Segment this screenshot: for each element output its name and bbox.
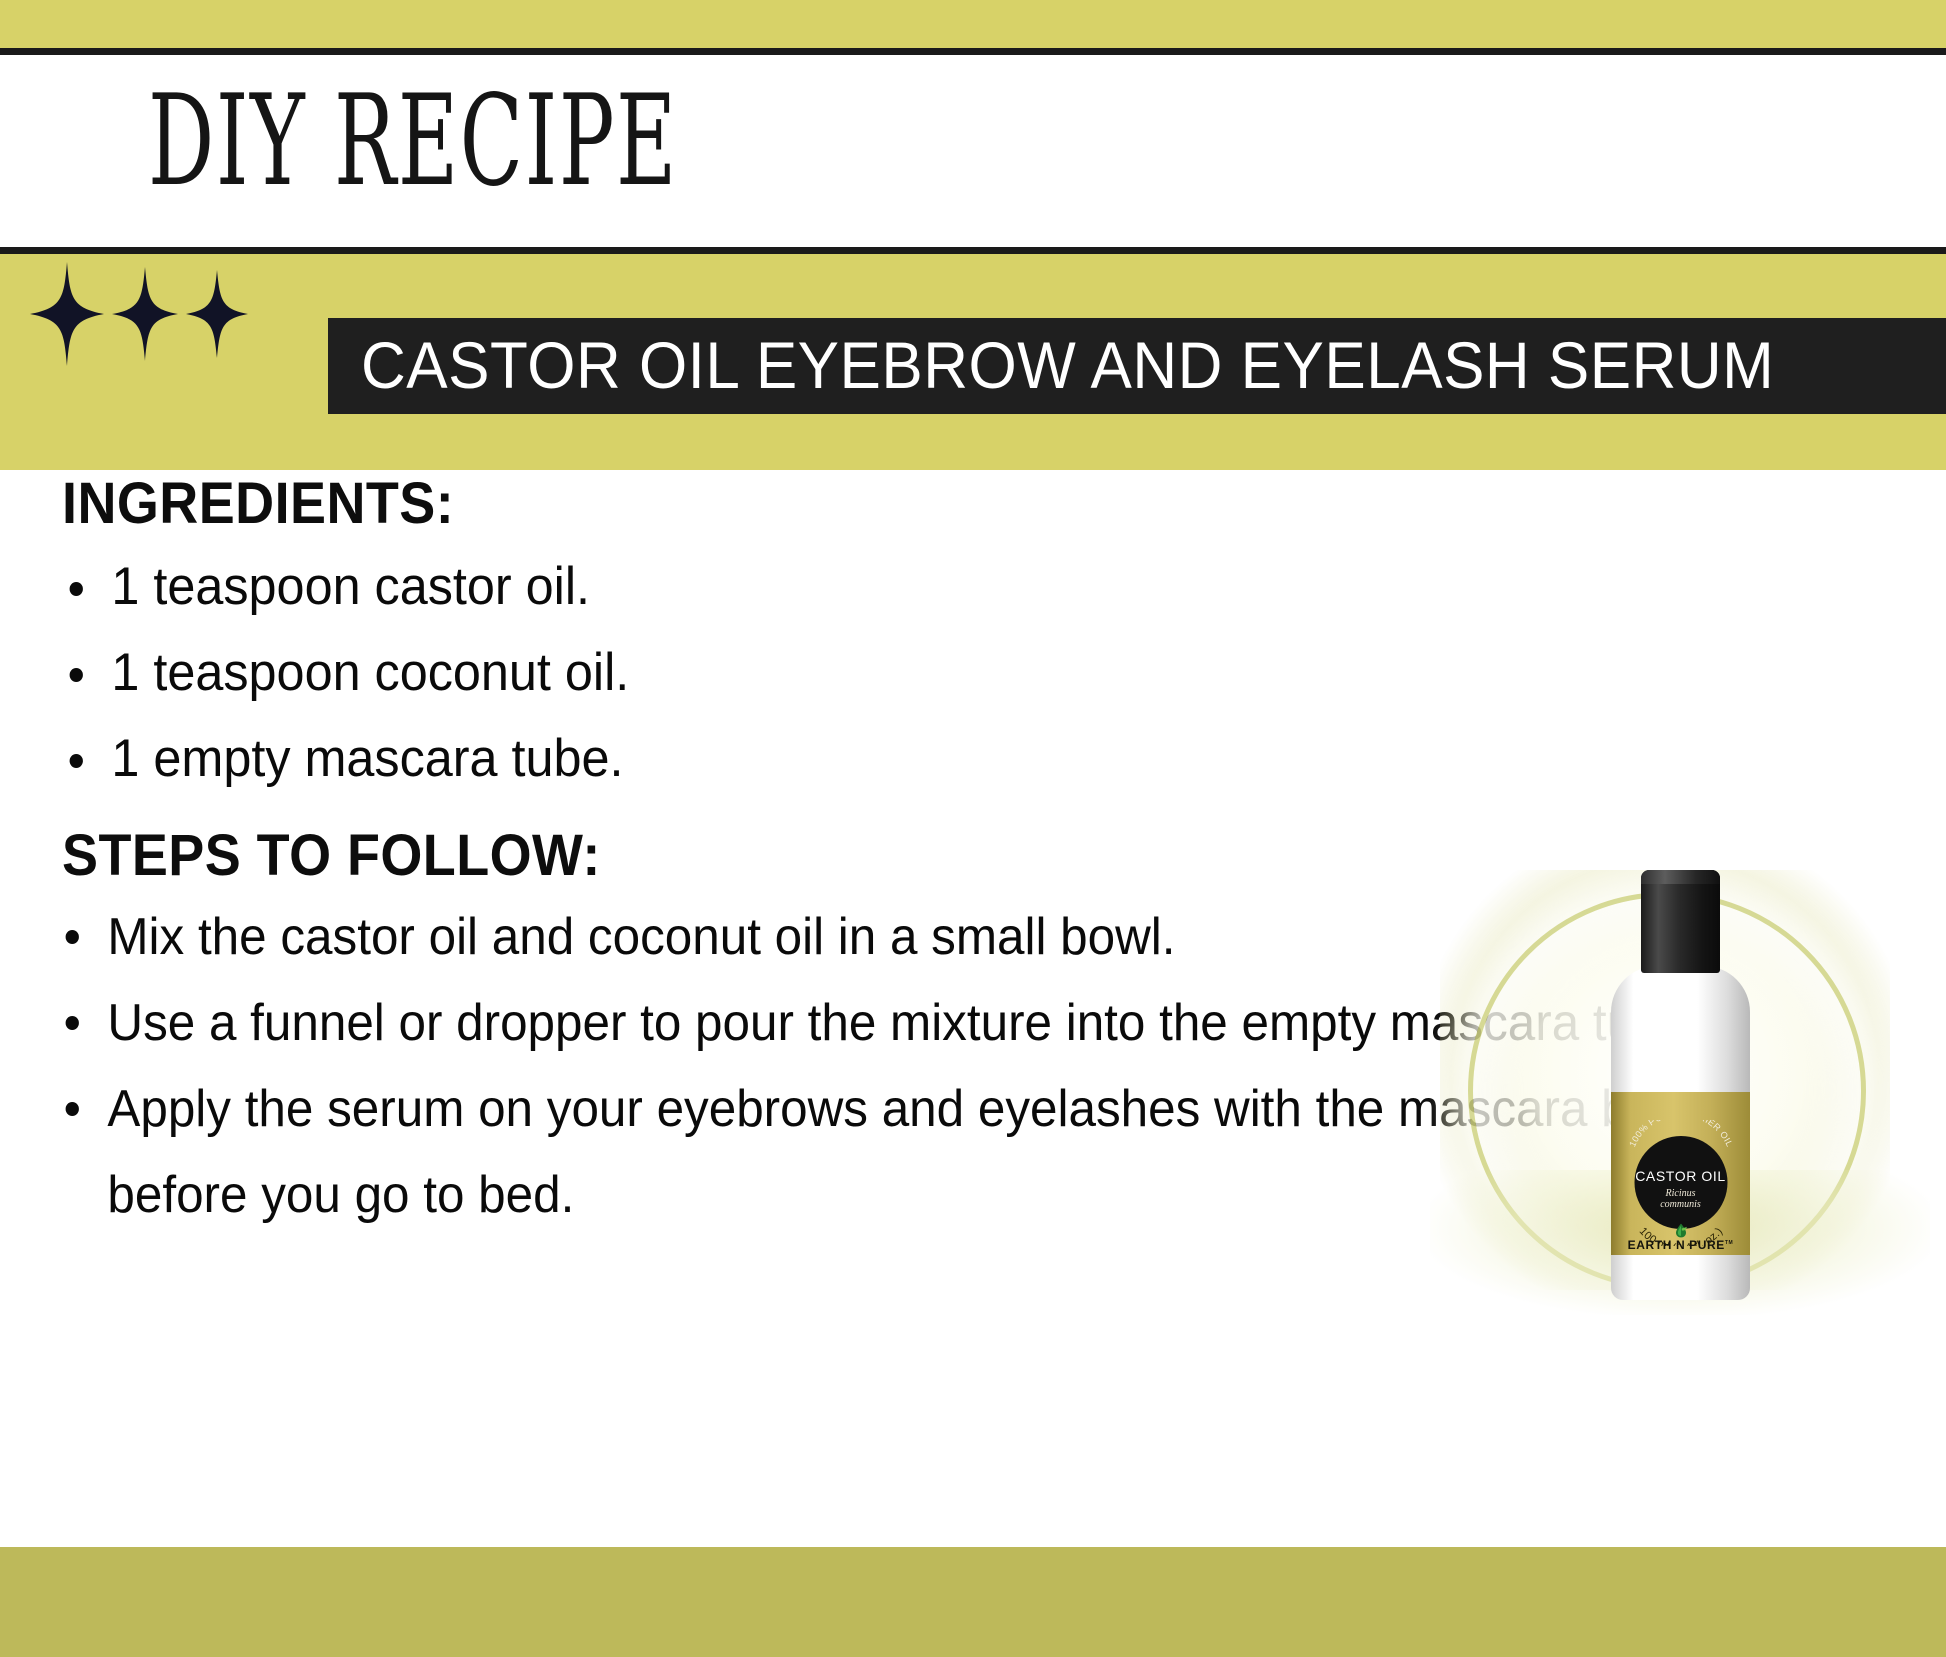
top-divider-rule (0, 48, 1946, 55)
bottom-olive-band (0, 1547, 1946, 1657)
label-arc-top: 100% PURE CARRIER OIL (1615, 1120, 1747, 1175)
ingredients-heading: INGREDIENTS: (62, 470, 454, 537)
title-divider-rule (0, 247, 1946, 254)
recipe-title-bar: CASTOR OIL EYEBROW AND EYELASH SERUM (328, 318, 1946, 414)
svg-text:100% PURE CARRIER OIL: 100% PURE CARRIER OIL (1627, 1120, 1735, 1148)
list-item: 1 teaspoon castor oil. (62, 544, 1050, 630)
top-olive-band (0, 0, 1946, 48)
ingredients-list: 1 teaspoon castor oil. 1 teaspoon coconu… (62, 544, 1102, 802)
label-latin-name: Ricinus communis (1611, 1188, 1750, 1210)
bottle-cap (1641, 870, 1720, 973)
recipe-poster: DIY RECIPE CASTOR OIL EYEBROW AND EYELAS… (0, 0, 1946, 1657)
castor-oil-bottle: 100% PURE CARRIER OIL CASTOR OIL Ricinus… (1591, 870, 1769, 1300)
steps-heading: STEPS TO FOLLOW: (62, 822, 601, 889)
label-brand-name: EARTH N PURETM (1611, 1238, 1750, 1252)
list-item: 1 empty mascara tube. (62, 716, 1050, 802)
four-point-star-icon (112, 267, 178, 361)
sparkle-group (30, 258, 300, 370)
kicker-zone: DIY RECIPE (0, 55, 1946, 247)
list-item: 1 teaspoon coconut oil. (62, 630, 1050, 716)
four-point-star-icon (30, 262, 104, 366)
page-title: DIY RECIPE (148, 79, 678, 204)
label-product-name: CASTOR OIL (1611, 1168, 1750, 1184)
content-area: INGREDIENTS: 1 teaspoon castor oil. 1 te… (0, 470, 1946, 1547)
product-image: 100% PURE CARRIER OIL CASTOR OIL Ricinus… (1430, 870, 1930, 1310)
label-arc-top-text: 100% PURE CARRIER OIL (1627, 1120, 1735, 1148)
four-point-star-icon (186, 270, 248, 358)
leaf-drop-icon (1673, 1223, 1688, 1238)
recipe-title: CASTOR OIL EYEBROW AND EYELASH SERUM (328, 328, 1774, 403)
bottle-label: 100% PURE CARRIER OIL CASTOR OIL Ricinus… (1611, 1092, 1750, 1255)
